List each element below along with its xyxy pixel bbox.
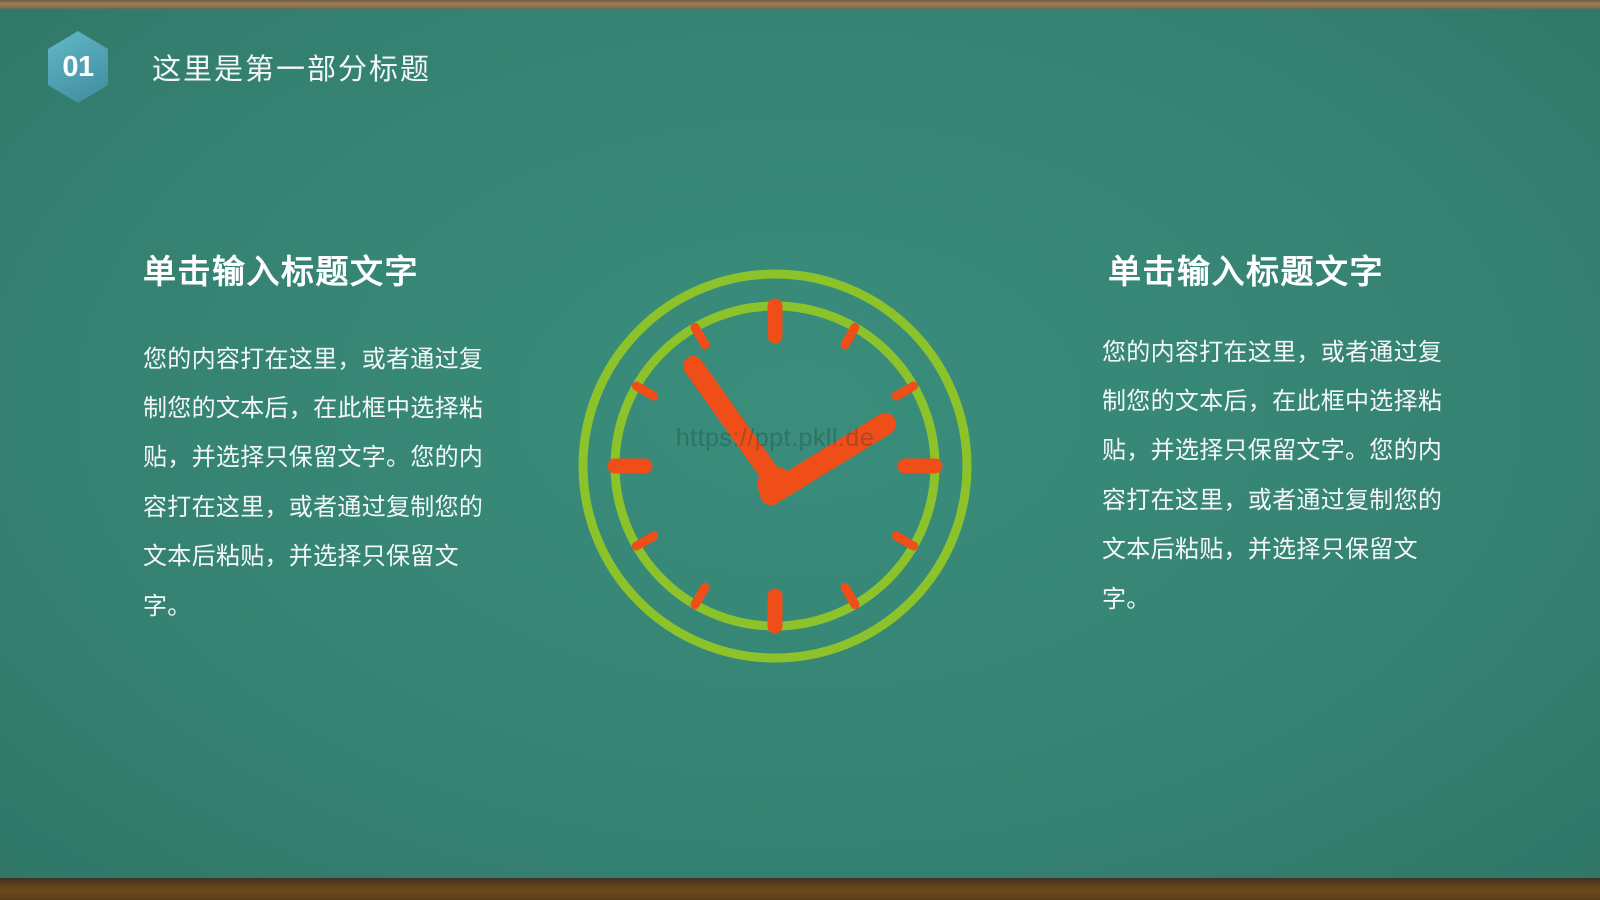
clock-illustration — [575, 266, 975, 666]
column-body-right: 您的内容打在这里，或者通过复制您的文本后，在此框中选择粘贴，并选择只保留文字。您… — [1102, 328, 1462, 625]
section-number-badge: 01 — [48, 31, 108, 103]
clock-hour-hand — [693, 366, 775, 481]
content-column-left: 单击输入标题文字 您的内容打在这里，或者通过复制您的文本后，在此框中选择粘贴，并… — [143, 252, 503, 631]
slide-canvas: 01 这里是第一部分标题 单击输入标题文字 您的内容打在这里，或者通过复制您的文… — [0, 0, 1600, 900]
chalkboard-frame-bottom — [0, 878, 1600, 900]
clock-icon — [575, 266, 975, 666]
column-body-left: 您的内容打在这里，或者通过复制您的文本后，在此框中选择粘贴，并选择只保留文字。您… — [143, 335, 503, 632]
clock-hands — [693, 366, 885, 497]
section-number-label: 01 — [62, 53, 93, 82]
column-heading-left: 单击输入标题文字 — [143, 252, 503, 292]
section-title: 这里是第一部分标题 — [152, 46, 431, 88]
slide-header: 01 这里是第一部分标题 — [48, 30, 431, 104]
content-column-right: 单击输入标题文字 您的内容打在这里，或者通过复制您的文本后，在此框中选择粘贴，并… — [1102, 252, 1462, 624]
chalkboard-frame-top — [0, 0, 1600, 9]
column-heading-right: 单击输入标题文字 — [1108, 252, 1462, 292]
